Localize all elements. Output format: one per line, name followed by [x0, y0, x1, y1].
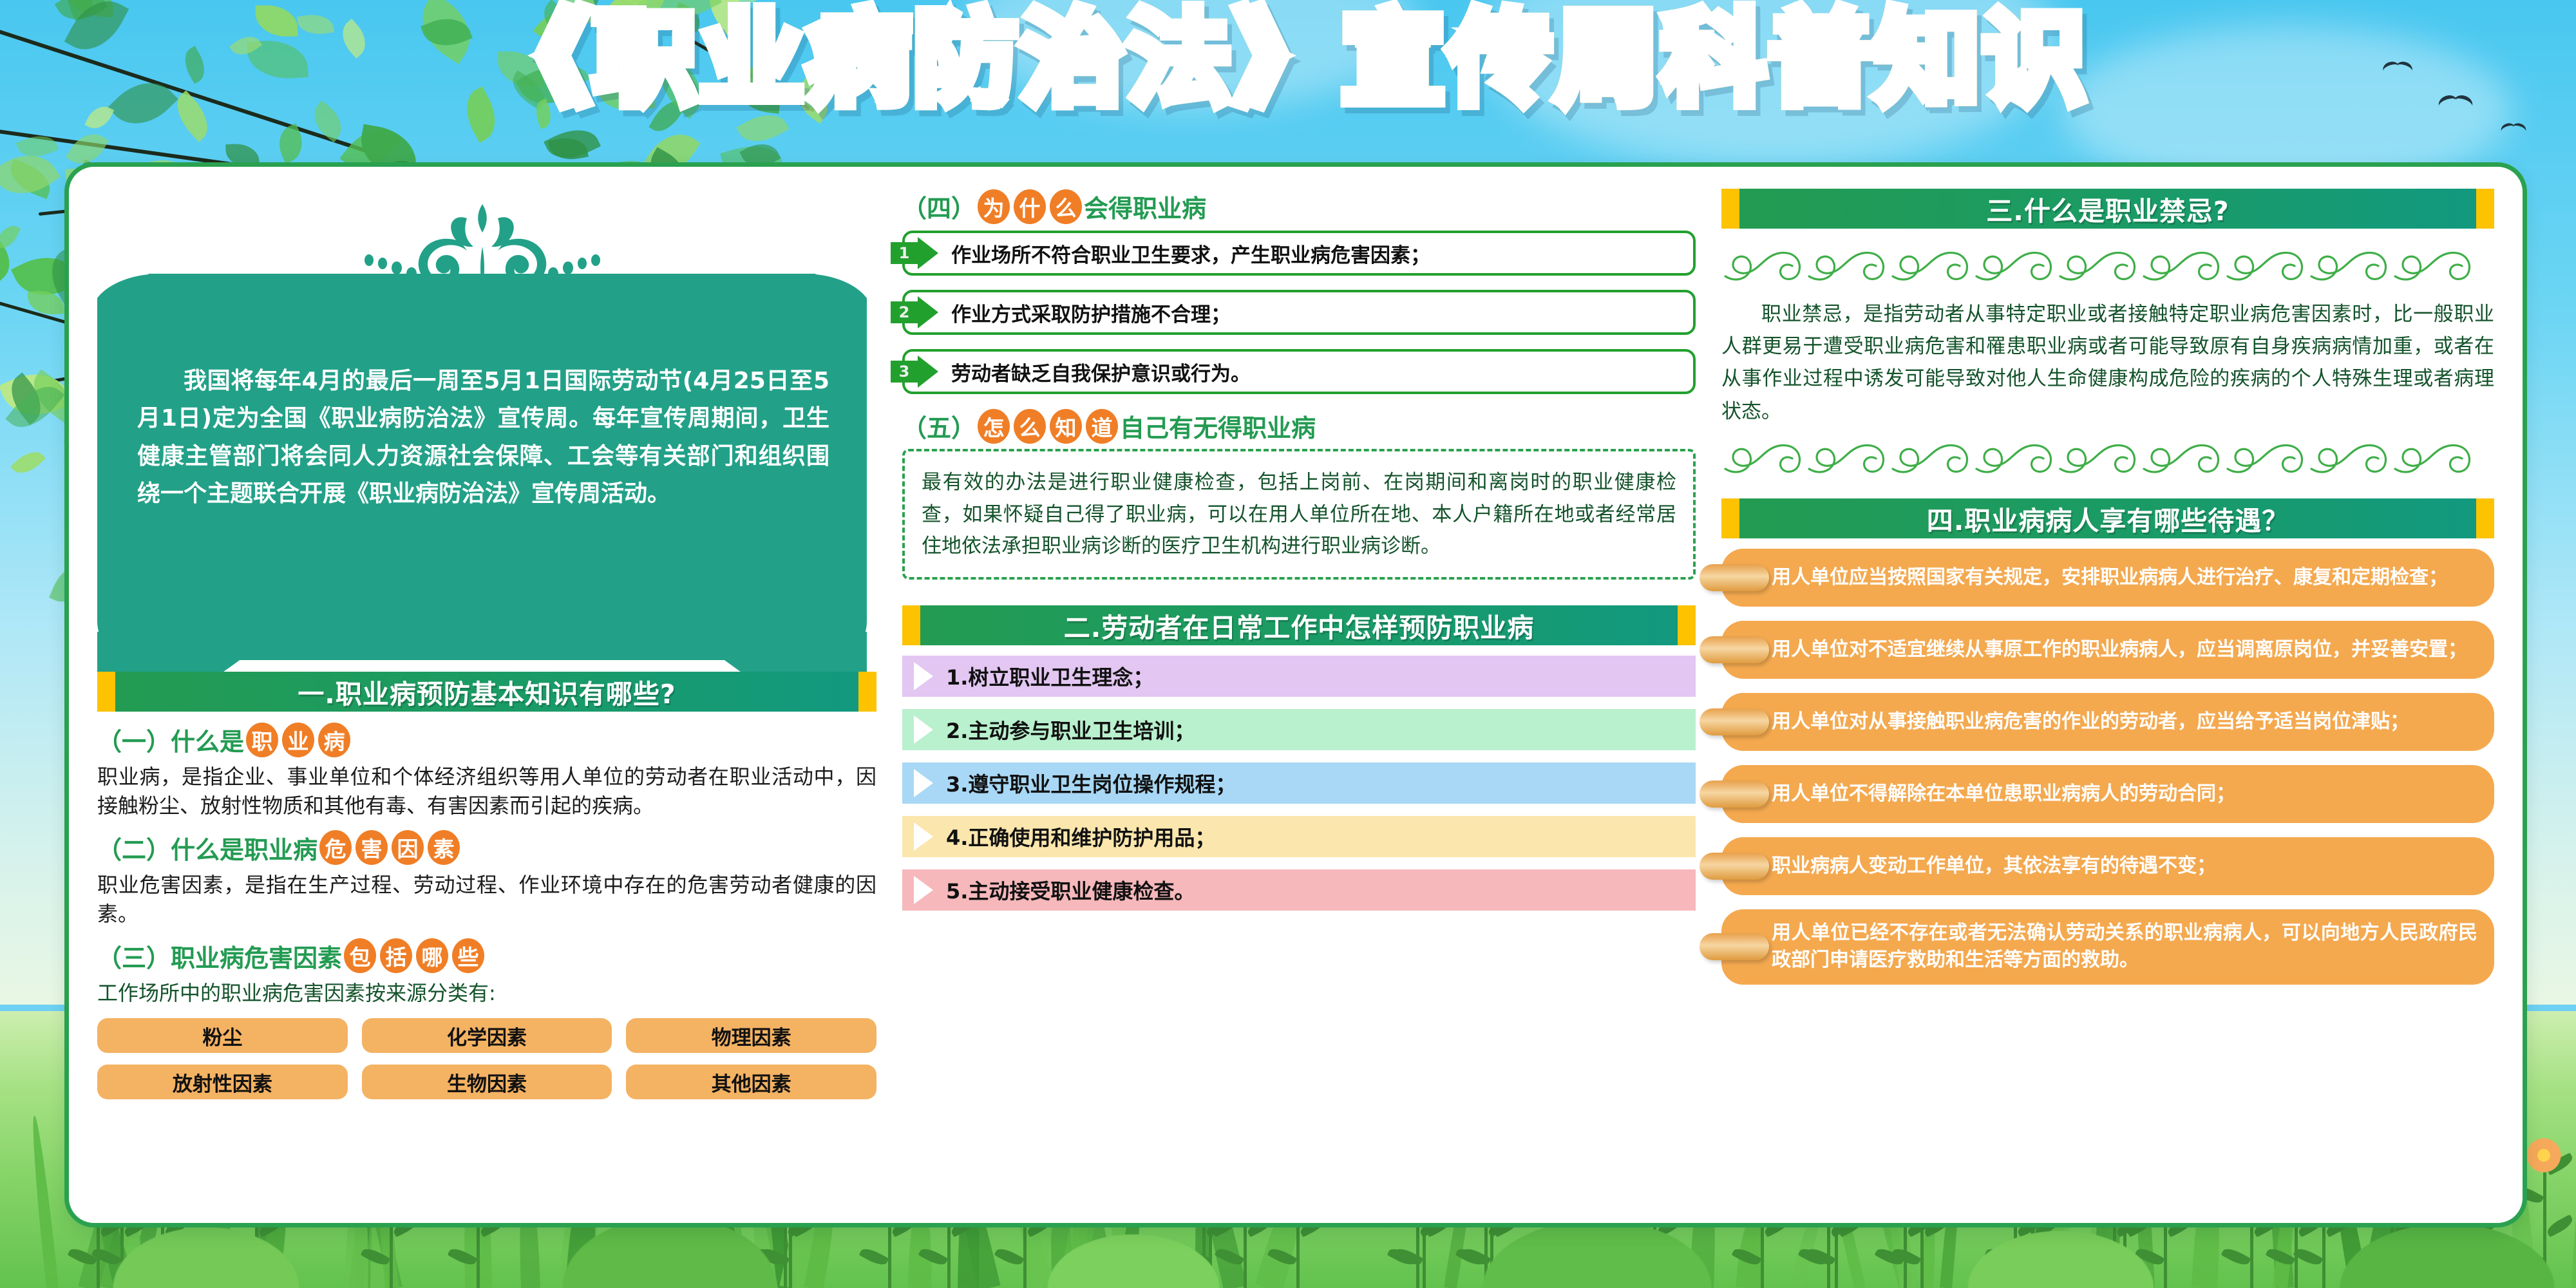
plant-leaflet [1215, 1245, 1245, 1269]
highlight-chip: 害 [355, 830, 388, 865]
plant-stem [2543, 1159, 2546, 1288]
plant-leaflet [91, 1245, 122, 1269]
plant-leaflet [1891, 1245, 1921, 1269]
poster-root: 《职业病防治法》宣传周科普知识 [0, 0, 2576, 1288]
header-cap-right [2476, 498, 2494, 538]
diagnosis-dashed-box: 最有效的办法是进行职业健康检查，包括上岗前、在岗期间和离岗时的职业健康检查，如果… [902, 449, 1696, 580]
plant-leaflet [2441, 1245, 2472, 1269]
plant-leaflet [1624, 1245, 1654, 1269]
highlight-chip: 为 [978, 189, 1010, 224]
plant-leaflet [2135, 1245, 2165, 1269]
bird-icon [2501, 124, 2526, 136]
highlight-chip: 病 [318, 723, 350, 757]
poster-title-wrap: 《职业病防治法》宣传周科普知识 [0, 5, 2576, 113]
plant-leaflet [1461, 1245, 1492, 1269]
benefit-text: 用人单位应当按照国家有关规定，安排职业病病人进行治疗、康复和定期检查； [1772, 564, 2448, 592]
plant-leaflet [2265, 1245, 2295, 1269]
highlight-chip: 什 [1014, 189, 1046, 224]
benefit-item[interactable]: 职业病病人变动工作单位，其依法享有的待遇不变； [1721, 837, 2494, 895]
highlight-chip: 道 [1086, 409, 1118, 444]
plant-leaflet [1580, 1245, 1610, 1269]
section-header-three: 三.什么是职业禁忌? [1721, 189, 2494, 229]
marker-number: 2 [891, 301, 918, 323]
prevention-band[interactable]: 3.遵守职业卫生岗位操作规程； [902, 762, 1696, 804]
paragraph-one-1: 职业病，是指企业、事业单位和个体经济组织等用人单位的劳动者在职业活动中，因接触粉… [97, 762, 876, 821]
cause-text: 劳动者缺乏自我保护意识或行为。 [951, 357, 1251, 386]
subheading-text: （三）职业病危害因素 [97, 938, 342, 974]
header-cap-right [858, 672, 876, 712]
highlight-chip: 素 [428, 830, 460, 865]
marker-number: 1 [891, 242, 918, 264]
plant-leaflet [1455, 1245, 1486, 1269]
plant-leaflet [1387, 1245, 1417, 1269]
plant-leaflet [2514, 1245, 2544, 1269]
subheading-text: （二）什么是职业病 [97, 830, 317, 866]
section-one-title: 一.职业病预防基本知识有哪些? [298, 672, 676, 711]
benefit-item[interactable]: 用人单位对不适宜继续从事原工作的职业病病人，应当调离原岗位，并妥善安置； [1721, 621, 2494, 679]
prevention-band[interactable]: 5.主动接受职业健康检查。 [902, 869, 1696, 911]
subheading-text: （五） [902, 408, 976, 444]
plant-leaflet [2544, 1215, 2575, 1238]
paragraph-one-2: 职业危害因素，是指在生产过程、劳动过程、作业环境中存在的危害劳动者健康的因素。 [97, 871, 876, 929]
highlight-chip: 因 [392, 830, 424, 865]
factor-tag[interactable]: 粉尘 [97, 1018, 348, 1053]
plant-leaflet [2083, 1245, 2114, 1269]
highlight-chip: 些 [452, 938, 484, 973]
prevention-band[interactable]: 4.正确使用和维护防护用品； [902, 816, 1696, 857]
section-four-title: 四.职业病病人享有哪些待遇？ [1927, 499, 2289, 538]
prevention-band[interactable]: 1.树立职业卫生理念； [902, 656, 1696, 697]
arrow-icon [914, 822, 933, 851]
pill-marker-icon [1700, 781, 1769, 808]
plant-leaflet [1173, 1245, 1203, 1269]
cause-text: 作业方式采取防护措施不合理； [951, 298, 1231, 327]
plant-leaflet [754, 1245, 784, 1269]
factor-tag[interactable]: 其他因素 [626, 1065, 876, 1099]
section-header-one: 一.职业病预防基本知识有哪些? [97, 672, 876, 712]
wave-bottom-decoration [97, 594, 867, 672]
plant-leaflet [1267, 1245, 1298, 1269]
factor-tag[interactable]: 物理因素 [626, 1018, 876, 1053]
pill-marker-icon [1700, 708, 1769, 735]
section-header-two: 二.劳动者在日常工作中怎样预防职业病 [902, 605, 1696, 645]
plant-leaflet [1393, 1245, 1423, 1269]
subheading-five-mid: （五） 怎 么 知 道 自己有无得职业病 [902, 408, 1696, 444]
arrow-marker-icon: 1 [891, 237, 938, 269]
column-right: 三.什么是职业禁忌? 职业 [1721, 189, 2494, 1204]
plant-leaflet [1797, 1245, 1828, 1269]
prevention-text: 4.正确使用和维护防护用品； [946, 822, 1215, 851]
header-cap-right [1678, 605, 1696, 645]
highlight-chip: 么 [1050, 189, 1082, 224]
highlight-chip: 危 [319, 830, 352, 865]
highlight-chip: 怎 [978, 409, 1010, 444]
plant-leaflet [448, 1245, 478, 1269]
plant-leaflet [2440, 1245, 2470, 1269]
factor-tag[interactable]: 放射性因素 [97, 1065, 348, 1099]
subheading-text: （四） [902, 189, 976, 224]
swirl-divider-top-icon [1721, 239, 2494, 294]
pill-marker-icon [1700, 933, 1769, 960]
highlight-chip: 么 [1014, 409, 1046, 444]
benefit-text: 用人单位对不适宜继续从事原工作的职业病病人，应当调离原岗位，并妥善安置； [1772, 636, 2467, 664]
plant-leaflet [2431, 1245, 2461, 1269]
highlight-chip: 职 [246, 723, 278, 757]
column-left: 我国将每年4月的最后一周至5月1日国际劳动节(4月25日至5月1日)定为全国《职… [97, 189, 876, 1204]
subheading-one-1: （一）什么是 职 业 病 [97, 722, 876, 757]
marker-number: 3 [891, 361, 918, 383]
plant-leaflet [226, 1245, 256, 1269]
arrow-icon [914, 662, 933, 690]
grass-blade [28, 1115, 59, 1288]
subheading-text: 会得职业病 [1084, 189, 1206, 224]
cause-list: 1 作业场所不符合职业卫生要求，产生职业病危害因素； 2 作业方式采取防护措施不… [902, 231, 1696, 394]
subheading-text: 自己有无得职业病 [1120, 408, 1316, 444]
plant-leaflet [994, 1245, 1025, 1269]
highlight-chip: 包 [344, 938, 376, 973]
prevention-text: 5.主动接受职业健康检查。 [946, 875, 1195, 905]
cause-list-item[interactable]: 2 作业方式采取防护措施不合理； [902, 290, 1696, 335]
factor-tag[interactable]: 生物因素 [362, 1065, 612, 1099]
pill-marker-icon [1700, 564, 1769, 591]
plant-leaflet [1732, 1245, 1762, 1269]
factor-tag[interactable]: 化学因素 [362, 1018, 612, 1053]
plant-leaflet [360, 1245, 390, 1269]
plant-leaflet [1985, 1245, 2015, 1269]
grass-blade [2571, 1150, 2576, 1288]
plant-leaflet [68, 1245, 98, 1269]
benefit-item[interactable]: 用人单位不得解除在本单位患职业病病人的劳动合同； [1721, 765, 2494, 823]
benefit-list: 用人单位应当按照国家有关规定，安排职业病病人进行治疗、康复和定期检查； 用人单位… [1721, 549, 2494, 985]
header-cap-right [2476, 189, 2494, 229]
plant-leaflet [2384, 1245, 2414, 1269]
page-title: 《职业病防治法》宣传周科普知识 [486, 5, 2090, 113]
benefit-text: 用人单位已经不存在或者无法确认劳动关系的职业病病人，可以向地方人民政府民政部门申… [1772, 920, 2477, 974]
highlight-chip: 知 [1050, 409, 1082, 444]
arrow-icon [914, 769, 933, 797]
arrow-marker-icon: 3 [891, 355, 938, 388]
plant-leaflet [131, 1245, 162, 1269]
plant-leaflet [1180, 1245, 1210, 1269]
plant-leaflet [630, 1245, 661, 1269]
highlight-chip: 括 [380, 938, 412, 973]
prevention-band[interactable]: 2.主动参与职业卫生培训； [902, 709, 1696, 750]
highlight-chip: 业 [282, 723, 314, 757]
pill-marker-icon [1700, 636, 1769, 663]
subheading-one-2: （二）什么是职业病 危 害 因 素 [97, 830, 876, 866]
plant-leaflet [1984, 1245, 2014, 1269]
prevention-band-list: 1.树立职业卫生理念； 2.主动参与职业卫生培训； 3.遵守职业卫生岗位操作规程… [902, 656, 1696, 911]
header-cap-left [1721, 498, 1739, 538]
plant-leaflet [2382, 1245, 2412, 1269]
benefit-item[interactable]: 用人单位对从事接触职业病危害的作业的劳动者，应当给予适当岗位津贴； [1721, 693, 2494, 751]
plant-leaflet [2544, 1153, 2575, 1176]
benefit-text: 用人单位不得解除在本单位患职业病病人的劳动合同； [1772, 781, 2235, 808]
intro-text: 我国将每年4月的最后一周至5月1日国际劳动节(4月25日至5月1日)定为全国《职… [137, 363, 829, 513]
plant-leaflet [1806, 1245, 1836, 1269]
taboo-paragraph: 职业禁忌，是指劳动者从事特定职业或者接触特定职业病危害因素时，比一般职业人群更易… [1721, 298, 2494, 428]
plant-leaflet [918, 1245, 948, 1269]
cause-text: 作业场所不符合职业卫生要求，产生职业病危害因素； [951, 239, 1430, 268]
cause-list-item[interactable]: 3 劳动者缺乏自我保护意识或行为。 [902, 349, 1696, 394]
diagnosis-text: 最有效的办法是进行职业健康检查，包括上岗前、在岗期间和离岗时的职业健康检查，如果… [922, 467, 1676, 563]
plant-leaflet [2293, 1245, 2324, 1269]
plant-leaflet [2002, 1245, 2032, 1269]
prevention-text: 1.树立职业卫生理念； [946, 661, 1153, 691]
section-three-title: 三.什么是职业禁忌? [1986, 189, 2229, 228]
content-card: 我国将每年4月的最后一周至5月1日国际劳动节(4月25日至5月1日)定为全国《职… [64, 162, 2527, 1227]
header-cap-left [902, 605, 920, 645]
pill-marker-icon [1700, 853, 1769, 880]
section-two-title: 二.劳动者在日常工作中怎样预防职业病 [1064, 606, 1535, 645]
plant-leaflet [760, 1245, 790, 1269]
factor-tag-grid: 粉尘 化学因素 物理因素 放射性因素 生物因素 其他因素 [97, 1018, 876, 1099]
intro-panel: 我国将每年4月的最后一周至5月1日国际劳动节(4月25日至5月1日)定为全国《职… [97, 202, 867, 665]
arrow-icon [914, 715, 933, 744]
header-cap-left [1721, 189, 1739, 229]
prevention-text: 3.遵守职业卫生岗位操作规程； [946, 768, 1236, 798]
benefit-text: 用人单位对从事接触职业病危害的作业的劳动者，应当给予适当岗位津贴； [1772, 708, 2409, 736]
plant-leaflet [2386, 1245, 2416, 1269]
benefit-item[interactable]: 用人单位已经不存在或者无法确认劳动关系的职业病病人，可以向地方人民政府民政部门申… [1721, 909, 2494, 985]
plant-leaflet [2094, 1245, 2124, 1269]
plant-leaflet [859, 1245, 889, 1269]
plant-leaflet [611, 1245, 641, 1269]
plant-leaflet [2135, 1245, 2165, 1269]
subheading-text: （一）什么是 [97, 722, 244, 757]
arrow-icon [914, 876, 933, 904]
subheading-one-3: （三）职业病危害因素 包 括 哪 些 [97, 938, 876, 974]
paragraph-one-3: 工作场所中的职业病危害因素按来源分类有: [97, 979, 876, 1008]
column-middle: （四） 为 什 么 会得职业病 1 作业场所不符合职业卫生要求，产生职业病危害因… [902, 189, 1696, 1204]
header-cap-left [97, 672, 115, 712]
flower-icon [2526, 1138, 2561, 1172]
prevention-text: 2.主动参与职业卫生培训； [946, 715, 1195, 744]
benefit-text: 职业病病人变动工作单位，其依法享有的待遇不变； [1772, 853, 2216, 880]
subheading-four-mid: （四） 为 什 么 会得职业病 [902, 189, 1696, 224]
cause-list-item[interactable]: 1 作业场所不符合职业卫生要求，产生职业病危害因素； [902, 231, 1696, 276]
plant-leaflet [2221, 1245, 2251, 1269]
plant-leaflet [2362, 1245, 2392, 1269]
benefit-item[interactable]: 用人单位应当按照国家有关规定，安排职业病病人进行治疗、康复和定期检查； [1721, 549, 2494, 607]
swirl-divider-bottom-icon [1721, 431, 2494, 487]
section-header-four: 四.职业病病人享有哪些待遇？ [1721, 498, 2494, 538]
highlight-chip: 哪 [416, 938, 448, 973]
plant-leaflet [1874, 1245, 1904, 1269]
arrow-marker-icon: 2 [891, 296, 938, 328]
